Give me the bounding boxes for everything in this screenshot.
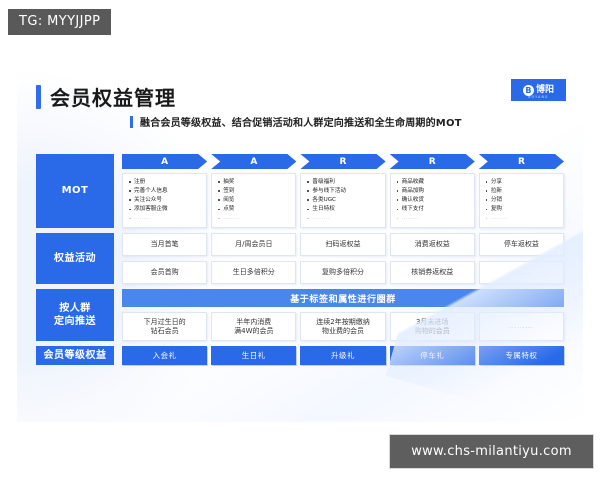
list-item: ………	[396, 214, 471, 223]
list-item: 分享	[485, 178, 560, 187]
list-item: 分销	[485, 196, 560, 205]
list-item: 抽奖	[217, 178, 292, 187]
row-label-benefit-activity: 权益活动	[36, 233, 114, 284]
benefit-box[interactable]: 扫码返权益	[300, 233, 385, 256]
segment-line-2: 物业费的会员	[316, 327, 369, 336]
list-item: 拉新	[485, 187, 560, 196]
list-item: 关注公众号	[128, 196, 203, 205]
row-mot: MOT A A R R R 注册 完善个人信息 关注公众号 添加客服企微 ………	[36, 154, 564, 228]
member-level-button[interactable]: 升级礼	[300, 346, 385, 365]
boyang-logo: B 博阳 BOYANG	[511, 79, 566, 101]
mot-card-3[interactable]: 晋级福利 参与线下活动 各类UGC 生日特权 ………	[300, 173, 385, 228]
segment-line-2: 钻石会员	[144, 327, 186, 336]
benefit-box[interactable]: 当月首笔	[122, 233, 207, 256]
title-accent-bar	[36, 85, 41, 109]
list-item: 晋级福利	[306, 178, 381, 187]
audience-segment-box[interactable]: 连续2年按期缴纳 物业费的会员	[300, 312, 385, 341]
stage-arrow-1[interactable]: A	[122, 154, 207, 169]
list-item: ………	[485, 214, 560, 223]
list-item: 参与线下活动	[306, 187, 381, 196]
subtitle: 融合会员等级权益、结合促销活动和人群定向推送和全生命周期的MOT	[130, 114, 462, 129]
member-level-button[interactable]: 入会礼	[122, 346, 207, 365]
watermark-bar: www.chs-milantiyu.com	[389, 434, 594, 469]
stage-arrow-3[interactable]: R	[300, 154, 385, 169]
benefit-box[interactable]: 消费返权益	[390, 233, 475, 256]
audience-segments: 下月过生日的 钻石会员 半年内消费 满4W的会员 连续2年按期缴纳	[122, 312, 564, 341]
segment-line-2: 满4W的会员	[234, 327, 273, 336]
row-label-targeted-push: 按人群 定向推送	[36, 289, 114, 341]
list-item: 各类UGC	[306, 196, 381, 205]
list-item: 阅览	[217, 196, 292, 205]
mot-card-5[interactable]: 分享 拉新 分销 复购 ………	[479, 173, 564, 228]
list-item: 添加客服企微	[128, 205, 203, 214]
list-item: 注册	[128, 178, 203, 187]
list-item: 线下支付	[396, 205, 471, 214]
list-item: 商品加购	[396, 187, 471, 196]
benefit-box-placeholder[interactable]: ………	[479, 261, 564, 284]
subtitle-accent-bar	[130, 116, 133, 128]
stage-arrow-2[interactable]: A	[211, 154, 296, 169]
benefit-box[interactable]: 会员首购	[122, 261, 207, 284]
row-label-line-2: 定向推送	[54, 315, 96, 329]
framework-grid: MOT A A R R R 注册 完善个人信息 关注公众号 添加客服企微 ………	[36, 154, 564, 370]
list-item: 商品收藏	[396, 178, 471, 187]
row-body-member-level: 入会礼 生日礼 升级礼 停车礼 专属特权	[122, 346, 564, 365]
benefit-activity-line-1: 当月首笔 月/周会员日 扫码返权益 消费返权益 停车返权益	[122, 233, 564, 256]
logo-chinese-text: 博阳	[536, 86, 554, 95]
segment-line-1: 连续2年按期缴纳	[316, 318, 369, 327]
mot-cards: 注册 完善个人信息 关注公众号 添加客服企微 ……… 抽奖 签到 阅览 点赞 ……	[122, 173, 564, 228]
segment-line-1: 3月未进场	[415, 318, 450, 327]
member-level-button[interactable]: 专属特权	[479, 346, 564, 365]
list-item: ………	[217, 214, 292, 223]
list-item: 复购	[485, 205, 560, 214]
stage-arrow-5[interactable]: R	[479, 154, 564, 169]
list-item: 完善个人信息	[128, 187, 203, 196]
member-level-buttons: 入会礼 生日礼 升级礼 停车礼 专属特权	[122, 346, 564, 365]
subtitle-text: 融合会员等级权益、结合促销活动和人群定向推送和全生命周期的MOT	[140, 114, 462, 129]
segment-line-1: 半年内消费	[234, 318, 273, 327]
row-label-member-level: 会员等级权益	[36, 346, 114, 365]
list-item: ………	[306, 214, 381, 223]
page-title: 会员权益管理	[36, 82, 176, 111]
benefit-box[interactable]: 停车返权益	[479, 233, 564, 256]
member-level-button[interactable]: 生日礼	[211, 346, 296, 365]
list-item: ………	[128, 214, 203, 223]
slide-canvas: 会员权益管理 融合会员等级权益、结合促销活动和人群定向推送和全生命周期的MOT …	[17, 62, 583, 422]
list-item: 确认收货	[396, 196, 471, 205]
logo-mark-icon: B	[523, 85, 534, 96]
segment-line-1: 下月过生日的	[144, 318, 186, 327]
member-level-button[interactable]: 停车礼	[390, 346, 475, 365]
benefit-box[interactable]: 生日多倍积分	[211, 261, 296, 284]
mot-card-2[interactable]: 抽奖 签到 阅览 点赞 ………	[211, 173, 296, 228]
segmentation-banner: 基于标签和属性进行圈群	[122, 289, 564, 307]
row-body-mot: A A R R R 注册 完善个人信息 关注公众号 添加客服企微 ………	[122, 154, 564, 228]
benefit-activity-line-2: 会员首购 生日多倍积分 复购多倍积分 核销券返权益 ………	[122, 261, 564, 284]
list-item: 点赞	[217, 205, 292, 214]
mot-card-1[interactable]: 注册 完善个人信息 关注公众号 添加客服企微 ………	[122, 173, 207, 228]
benefit-box[interactable]: 月/周会员日	[211, 233, 296, 256]
aarrr-stage-arrows: A A R R R	[122, 154, 564, 169]
row-body-benefit-activity: 当月首笔 月/周会员日 扫码返权益 消费返权益 停车返权益 会员首购 生日多倍积…	[122, 233, 564, 284]
list-item: 签到	[217, 187, 292, 196]
list-item: 生日特权	[306, 205, 381, 214]
benefit-box[interactable]: 复购多倍积分	[300, 261, 385, 284]
audience-segment-placeholder[interactable]: ………	[479, 312, 564, 341]
mot-card-4[interactable]: 商品收藏 商品加购 确认收货 线下支付 ………	[390, 173, 475, 228]
audience-segment-box[interactable]: 3月未进场 购物的会员	[390, 312, 475, 341]
benefit-box[interactable]: 核销券返权益	[390, 261, 475, 284]
row-label-line-1: 按人群	[54, 302, 96, 316]
audience-segment-box[interactable]: 下月过生日的 钻石会员	[122, 312, 207, 341]
audience-segment-box[interactable]: 半年内消费 满4W的会员	[211, 312, 296, 341]
tg-tag-overlay: TG: MYYJJPP	[8, 9, 111, 35]
row-body-targeted-push: 基于标签和属性进行圈群 下月过生日的 钻石会员 半年内消费 满4W的会员	[122, 289, 564, 341]
row-label-mot: MOT	[36, 154, 114, 228]
row-benefit-activity: 权益活动 当月首笔 月/周会员日 扫码返权益 消费返权益 停车返权益 会员首购 …	[36, 233, 564, 284]
logo-english-text: BOYANG	[511, 95, 566, 99]
row-member-level: 会员等级权益 入会礼 生日礼 升级礼 停车礼 专属特权	[36, 346, 564, 365]
row-targeted-push: 按人群 定向推送 基于标签和属性进行圈群 下月过生日的 钻石会员 半年内	[36, 289, 564, 341]
stage-arrow-4[interactable]: R	[390, 154, 475, 169]
title-text: 会员权益管理	[50, 82, 176, 111]
segment-line-2: 购物的会员	[415, 327, 450, 336]
